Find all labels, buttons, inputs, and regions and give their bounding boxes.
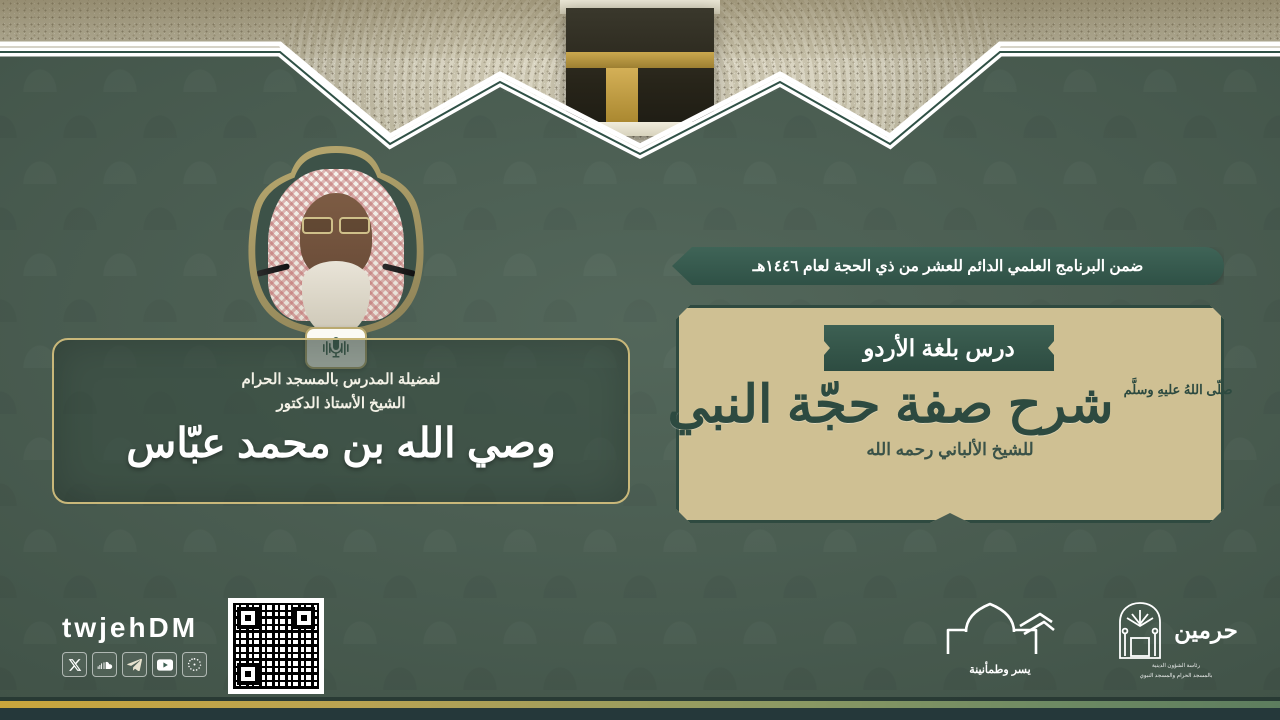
qr-finder-bottom-left [237,663,259,685]
haramain-logo-sub-line1: رئاسة الشؤون الدينية [1088,662,1264,670]
speaker-portrait [246,146,426,336]
lecture-title-row: صلّى اللهُ عليهِ وسلَّم شرح صفة حجّة الن… [690,378,1210,433]
youtube-icon[interactable] [152,652,177,677]
speaker-full-name: وصي الله بن محمد عبّاس [126,418,555,469]
soundcloud-icon[interactable] [92,652,117,677]
brand-block: twjehDM [62,612,222,677]
kaaba-door [606,68,638,124]
glasses-icon [302,217,370,230]
lecture-author: للشيخ الألباني رحمه الله [690,440,1210,460]
salawat-text: صلّى اللهُ عليهِ وسلَّم [1124,382,1233,398]
x-icon[interactable] [62,652,87,677]
bottom-dark-strip [0,708,1280,720]
gold-accent-strip [0,701,1280,708]
qr-finder-top-left [237,607,259,629]
yusr-logo-caption: يسر وطمأنينة [940,663,1060,676]
beard [302,261,370,329]
kaaba-icon [566,8,714,136]
haramain-logo-word: حرمين [1174,617,1238,644]
haramain-logo: حرمين رئاسة الشؤون الدينية بالمسجد الحرا… [1088,600,1264,696]
brand-handle: twjehDM [62,612,222,644]
lecture-title: شرح صفة حجّة النبي [667,378,1113,433]
speaker-face [262,159,410,329]
yusr-logo: يسر وطمأنينة [940,600,1060,692]
qr-finder-top-right [293,607,315,629]
poster-root: لفضيلة المدرس بالمسجد الحرام الشيخ الأست… [0,0,1280,720]
speaker-role-line: لفضيلة المدرس بالمسجد الحرام [241,369,440,392]
threads-icon[interactable] [182,652,207,677]
qr-code[interactable] [228,598,324,694]
social-links [62,652,222,677]
kiswa-gold-band [566,52,714,68]
telegram-icon[interactable] [122,652,147,677]
speaker-name-card: لفضيلة المدرس بالمسجد الحرام الشيخ الأست… [52,338,630,504]
haramain-logo-sub-line2: بالمسجد الحرام والمسجد النبوي [1088,672,1264,680]
haramain-emblem-icon [1114,600,1166,660]
program-ribbon: ضمن البرنامج العلمي الدائم للعشر من ذي ا… [672,247,1224,285]
speaker-honorific-line: الشيخ الأستاذ الدكتور [277,392,406,416]
language-badge: درس بلغة الأردو [824,325,1054,371]
